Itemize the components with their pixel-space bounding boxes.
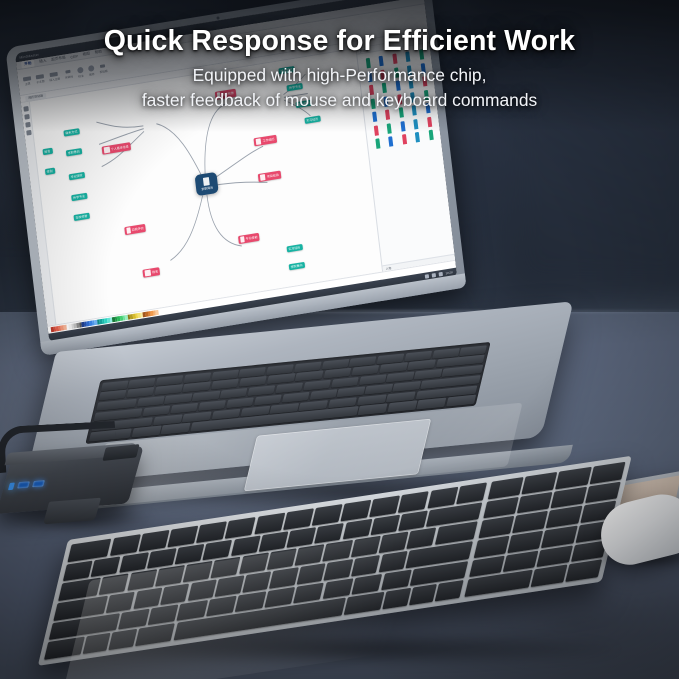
subheadline-line-1: Equipped with high-Performance chip, [18,64,661,88]
marketing-copy: Quick Response for Efficient Work Equipp… [0,26,679,113]
headline: Quick Response for Efficient Work [18,26,661,57]
subheadline: Equipped with high-Performance chip, fas… [18,64,661,112]
product-marketing-scene: MindMaster 开始 插入 起页布局 CEP 视图 帮助 主题 [0,0,679,679]
subheadline-line-2: faster feedback of mouse and keyboard co… [18,89,661,113]
